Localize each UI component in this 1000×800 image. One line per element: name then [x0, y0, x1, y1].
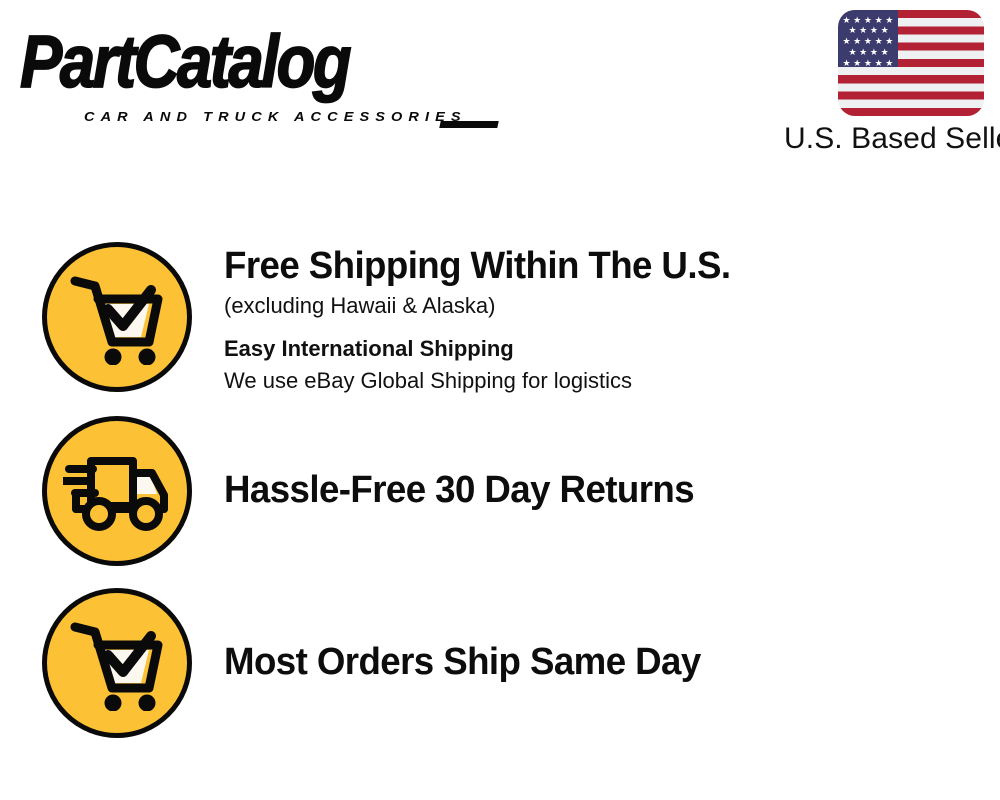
feature-heading: Most Orders Ship Same Day — [224, 640, 973, 685]
flag-star-icon: ★ — [863, 59, 872, 68]
feature-text-block: Free Shipping Within The U.S. (excluding… — [224, 242, 1000, 397]
seller-label: U.S. Based Seller — [784, 122, 984, 156]
brand-tagline: CAR AND TRUCK ACCESSORIES — [84, 110, 467, 125]
brand-logo[interactable]: PartCatalog CAR AND TRUCK ACCESSORIES — [20, 22, 490, 117]
feature-row: Most Orders Ship Same Day — [0, 588, 1000, 738]
flag-star-icon: ★ — [842, 37, 851, 46]
feature-subtext-strong: Easy International Shipping — [224, 334, 1000, 364]
feature-text-block: Most Orders Ship Same Day — [224, 588, 1000, 685]
flag-star-icon: ★ — [885, 16, 894, 25]
us-based-seller-badge: ★★★★★★★★★★★★★★★★★★★★★★★ U.S. Based Selle… — [784, 10, 984, 156]
delivery-truck-icon — [42, 416, 192, 566]
shopping-cart-check-icon — [42, 242, 192, 392]
promo-banner: PartCatalog CAR AND TRUCK ACCESSORIES ★★… — [0, 0, 1000, 800]
flag-star-icon: ★ — [885, 37, 894, 46]
feature-subtext: (excluding Hawaii & Alaska) — [224, 290, 1000, 322]
flag-star-icon: ★ — [853, 37, 862, 46]
feature-subtext: We use eBay Global Shipping for logistic… — [224, 365, 1000, 397]
flag-star-icon: ★ — [874, 16, 883, 25]
tagline-rule-decoration — [439, 121, 498, 128]
feature-heading: Free Shipping Within The U.S. — [224, 244, 973, 289]
us-flag-icon: ★★★★★★★★★★★★★★★★★★★★★★★ — [838, 10, 984, 116]
flag-star-icon: ★ — [842, 16, 851, 25]
flag-star-icon: ★ — [859, 48, 868, 57]
brand-wordmark: PartCatalog — [20, 22, 471, 100]
flag-star-icon: ★ — [842, 59, 851, 68]
flag-star-icon: ★ — [874, 37, 883, 46]
feature-row: Free Shipping Within The U.S. (excluding… — [0, 242, 1000, 397]
shopping-cart-check-icon — [42, 588, 192, 738]
flag-star-icon: ★ — [853, 59, 862, 68]
flag-star-icon: ★ — [874, 59, 883, 68]
flag-star-icon: ★ — [869, 26, 878, 35]
flag-star-icon: ★ — [859, 26, 868, 35]
flag-star-icon: ★ — [863, 37, 872, 46]
feature-text-block: Hassle-Free 30 Day Returns — [224, 416, 1000, 513]
flag-star-icon: ★ — [869, 48, 878, 57]
feature-row: Hassle-Free 30 Day Returns — [0, 416, 1000, 566]
flag-star-icon: ★ — [848, 26, 857, 35]
feature-heading: Hassle-Free 30 Day Returns — [224, 468, 973, 513]
flag-star-icon: ★ — [880, 48, 889, 57]
flag-star-icon: ★ — [880, 26, 889, 35]
flag-star-icon: ★ — [885, 59, 894, 68]
flag-star-icon: ★ — [848, 48, 857, 57]
flag-star-icon: ★ — [863, 16, 872, 25]
flag-star-icon: ★ — [853, 16, 862, 25]
flag-canton: ★★★★★★★★★★★★★★★★★★★★★★★ — [838, 10, 898, 67]
